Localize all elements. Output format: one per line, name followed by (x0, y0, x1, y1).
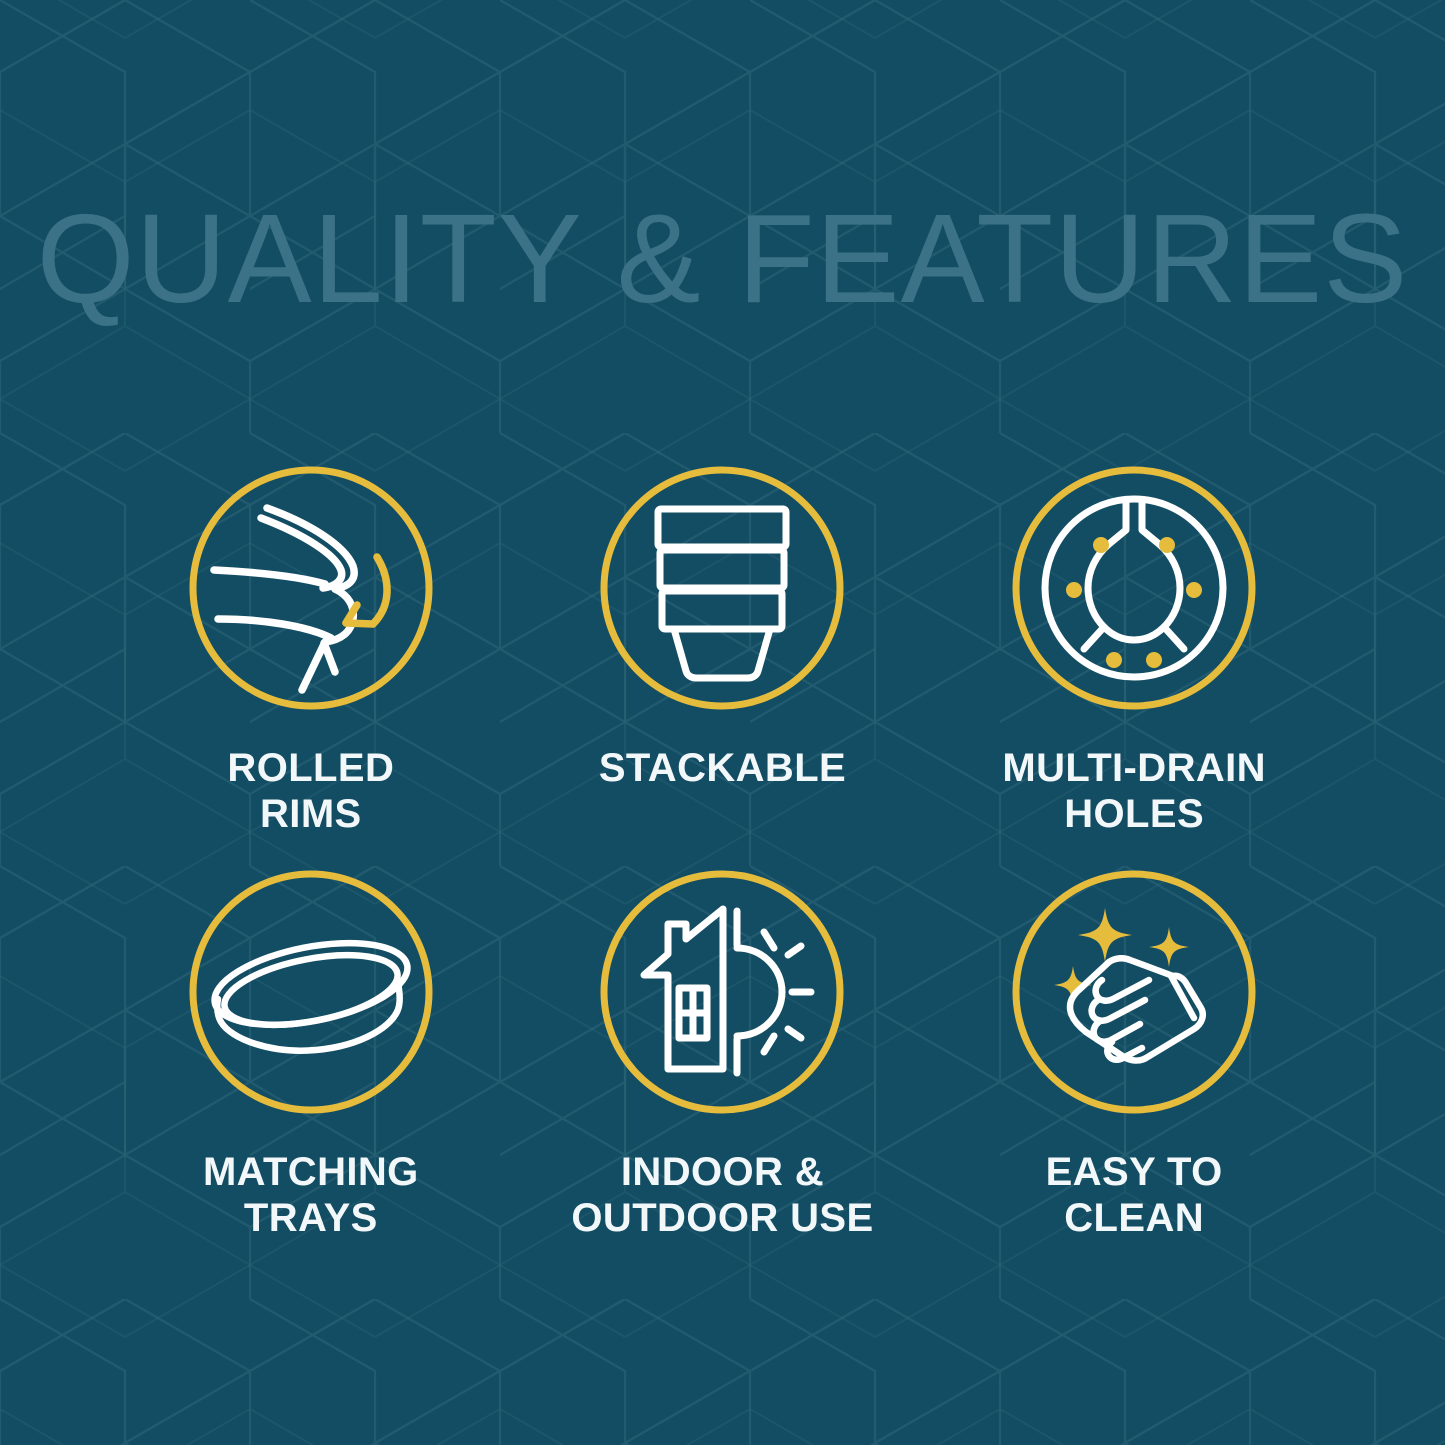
feature-label-easy-to-clean: EASY TO CLEAN (1046, 1149, 1223, 1242)
feature-grid: ROLLED RIMS STACKABLE (105, 462, 1340, 1270)
rolled-rims-badge (185, 462, 437, 714)
feature-label-indoor-outdoor-use: INDOOR & OUTDOOR USE (571, 1149, 873, 1242)
feature-item-easy-to-clean[interactable]: EASY TO CLEAN (928, 866, 1340, 1270)
stackable-badge (596, 462, 848, 714)
easy-to-clean-badge (1008, 866, 1260, 1118)
feature-item-matching-trays[interactable]: MATCHING TRAYS (105, 866, 517, 1270)
house-sun-icon (596, 866, 848, 1118)
feature-item-rolled-rims[interactable]: ROLLED RIMS (105, 462, 517, 866)
feature-item-indoor-outdoor-use[interactable]: INDOOR & OUTDOOR USE (517, 866, 929, 1270)
matching-trays-badge (185, 866, 437, 1118)
page-title: QUALITY & FEATURES (0, 196, 1445, 322)
indoor-outdoor-badge (596, 866, 848, 1118)
drain-holes-icon (1008, 462, 1260, 714)
feature-label-multi-drain-holes: MULTI-DRAIN HOLES (1002, 745, 1266, 838)
feature-item-multi-drain-holes[interactable]: MULTI-DRAIN HOLES (928, 462, 1340, 866)
rolled-rim-icon (185, 462, 437, 714)
feature-label-matching-trays: MATCHING TRAYS (203, 1149, 419, 1242)
stacked-pots-icon (596, 462, 848, 714)
feature-item-stackable[interactable]: STACKABLE (517, 462, 929, 866)
tray-icon (185, 866, 437, 1118)
hand-wiping-sparkle-icon (1008, 866, 1260, 1118)
multi-drain-holes-badge (1008, 462, 1260, 714)
feature-label-rolled-rims: ROLLED RIMS (227, 745, 394, 838)
feature-infographic: QUALITY & FEATURES (0, 0, 1445, 1445)
feature-label-stackable: STACKABLE (599, 745, 846, 791)
